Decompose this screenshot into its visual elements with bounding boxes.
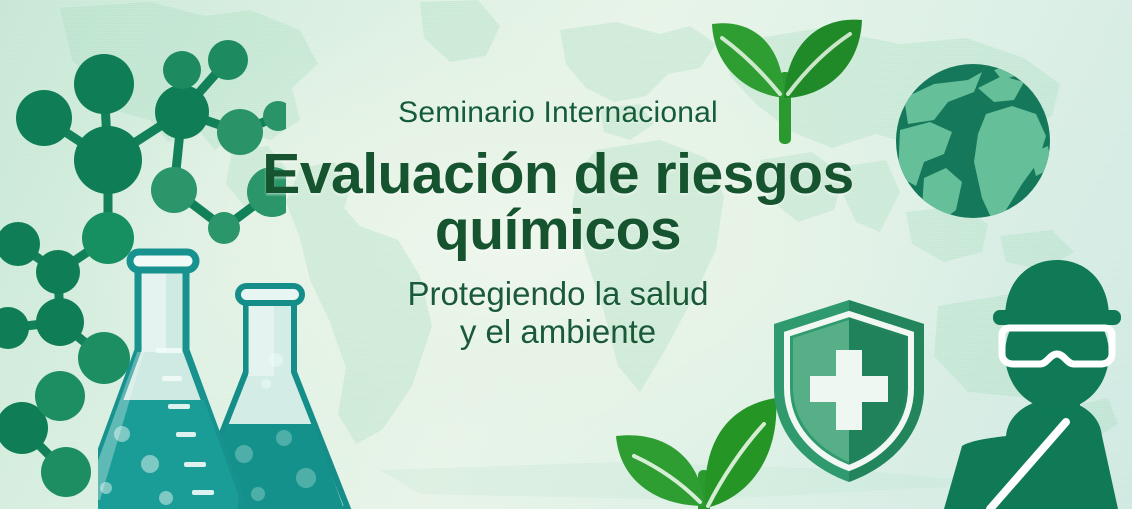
eyebrow-text: Seminario Internacional xyxy=(228,96,888,129)
page-title: Evaluación de riesgos químicos xyxy=(228,147,888,259)
subtitle-line-1: Protegiendo la salud xyxy=(408,275,709,312)
banner-text-block: Seminario Internacional Evaluación de ri… xyxy=(228,96,888,351)
safety-worker-icon xyxy=(916,246,1132,509)
headline-line-1: Evaluación de riesgos xyxy=(262,142,853,206)
seminar-banner: Seminario Internacional Evaluación de ri… xyxy=(0,0,1132,509)
subtitle-text: Protegiendo la salud y el ambiente xyxy=(228,275,888,352)
subtitle-line-2: y el ambiente xyxy=(228,313,888,351)
headline-line-2: químicos xyxy=(228,203,888,259)
globe-icon xyxy=(890,58,1056,224)
